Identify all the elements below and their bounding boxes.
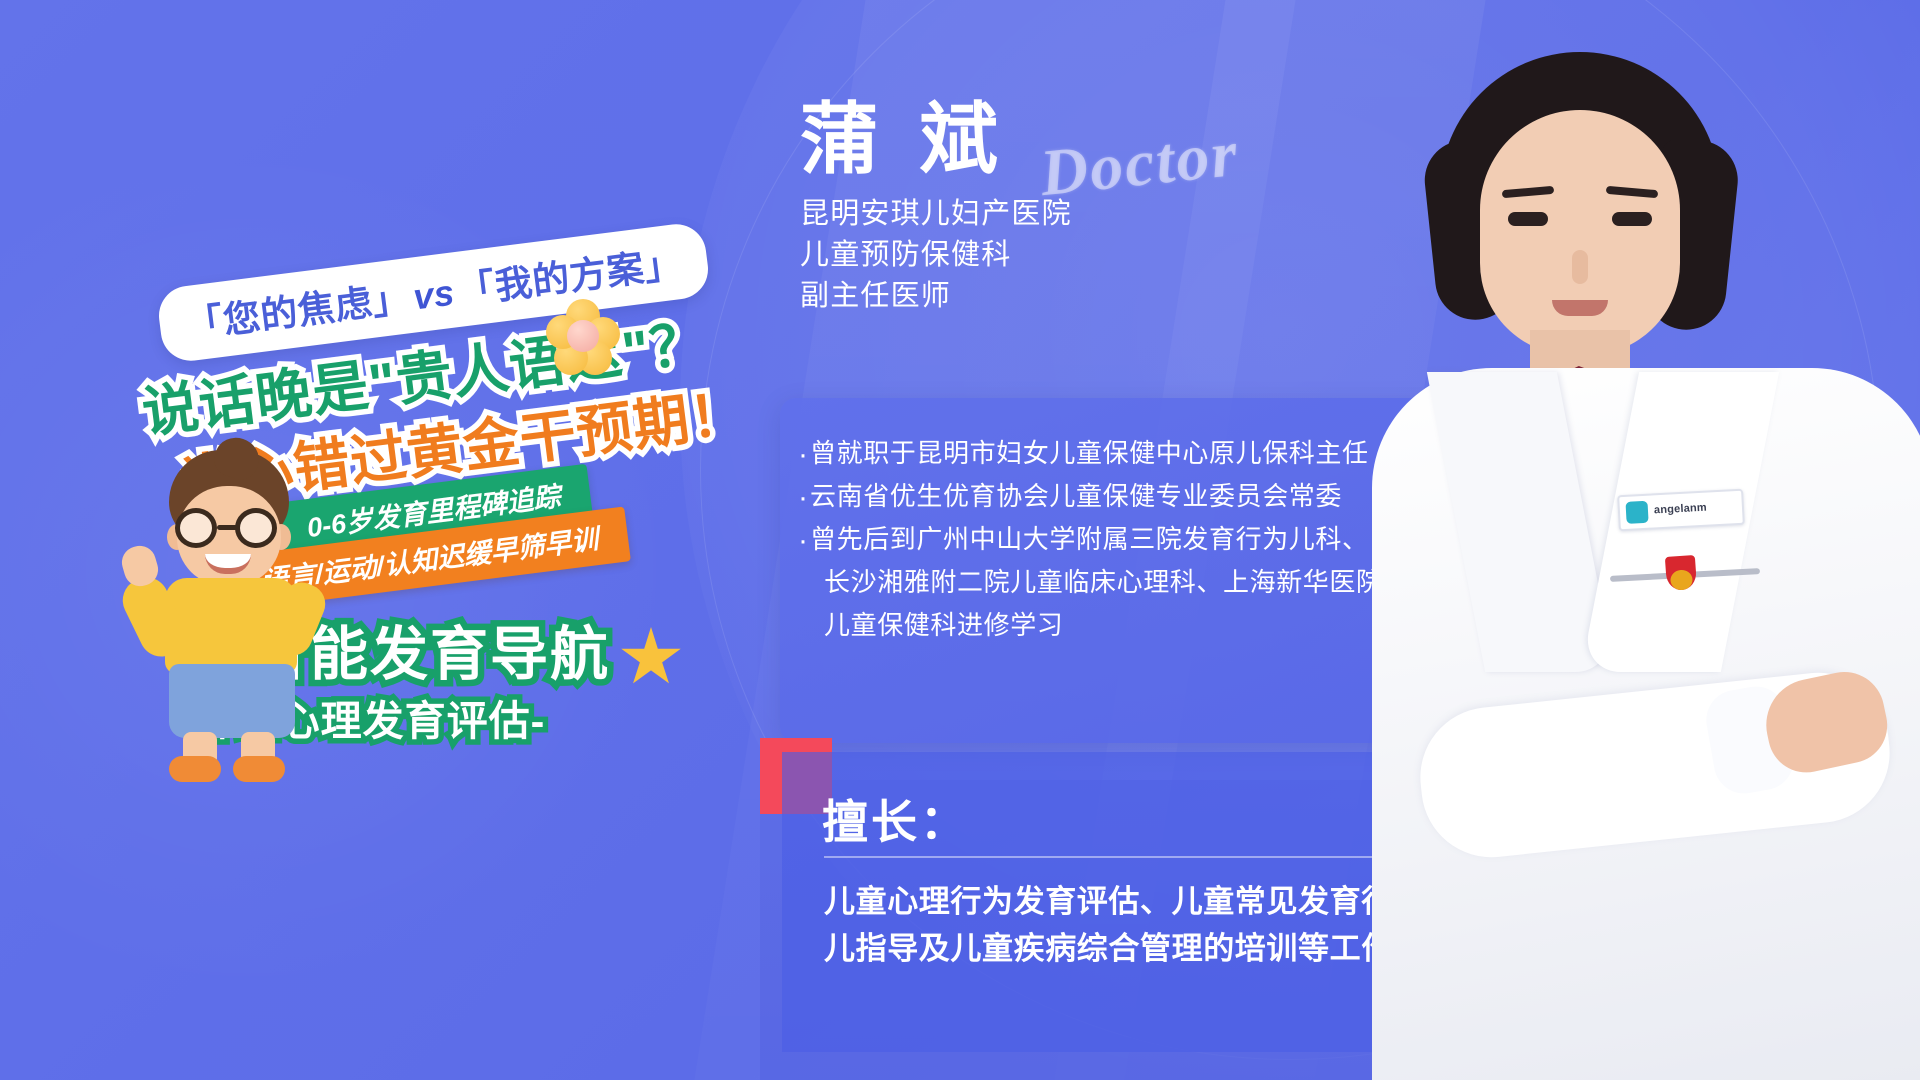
hospital-logo-icon xyxy=(1625,501,1648,524)
hospital-badge-brand: angelanm xyxy=(1654,503,1707,517)
boy-mascot-illustration xyxy=(125,450,375,780)
poster-canvas: 「您的焦虑」vs「我的方案」 说话晚是"贵人语迟"？ 当心错过黄金干预期！ 0-… xyxy=(0,0,1920,1080)
flower-icon xyxy=(546,299,620,373)
promo-pill-left-text: 「您的焦虑」 xyxy=(184,277,412,346)
specialty-title: 擅长： xyxy=(822,786,969,852)
hospital-badge: angelanm xyxy=(1617,489,1745,532)
promo-pill-vs-text: vs xyxy=(407,271,461,318)
doctor-portrait-photo: angelanm xyxy=(1280,0,1920,1080)
star-icon xyxy=(620,627,682,689)
